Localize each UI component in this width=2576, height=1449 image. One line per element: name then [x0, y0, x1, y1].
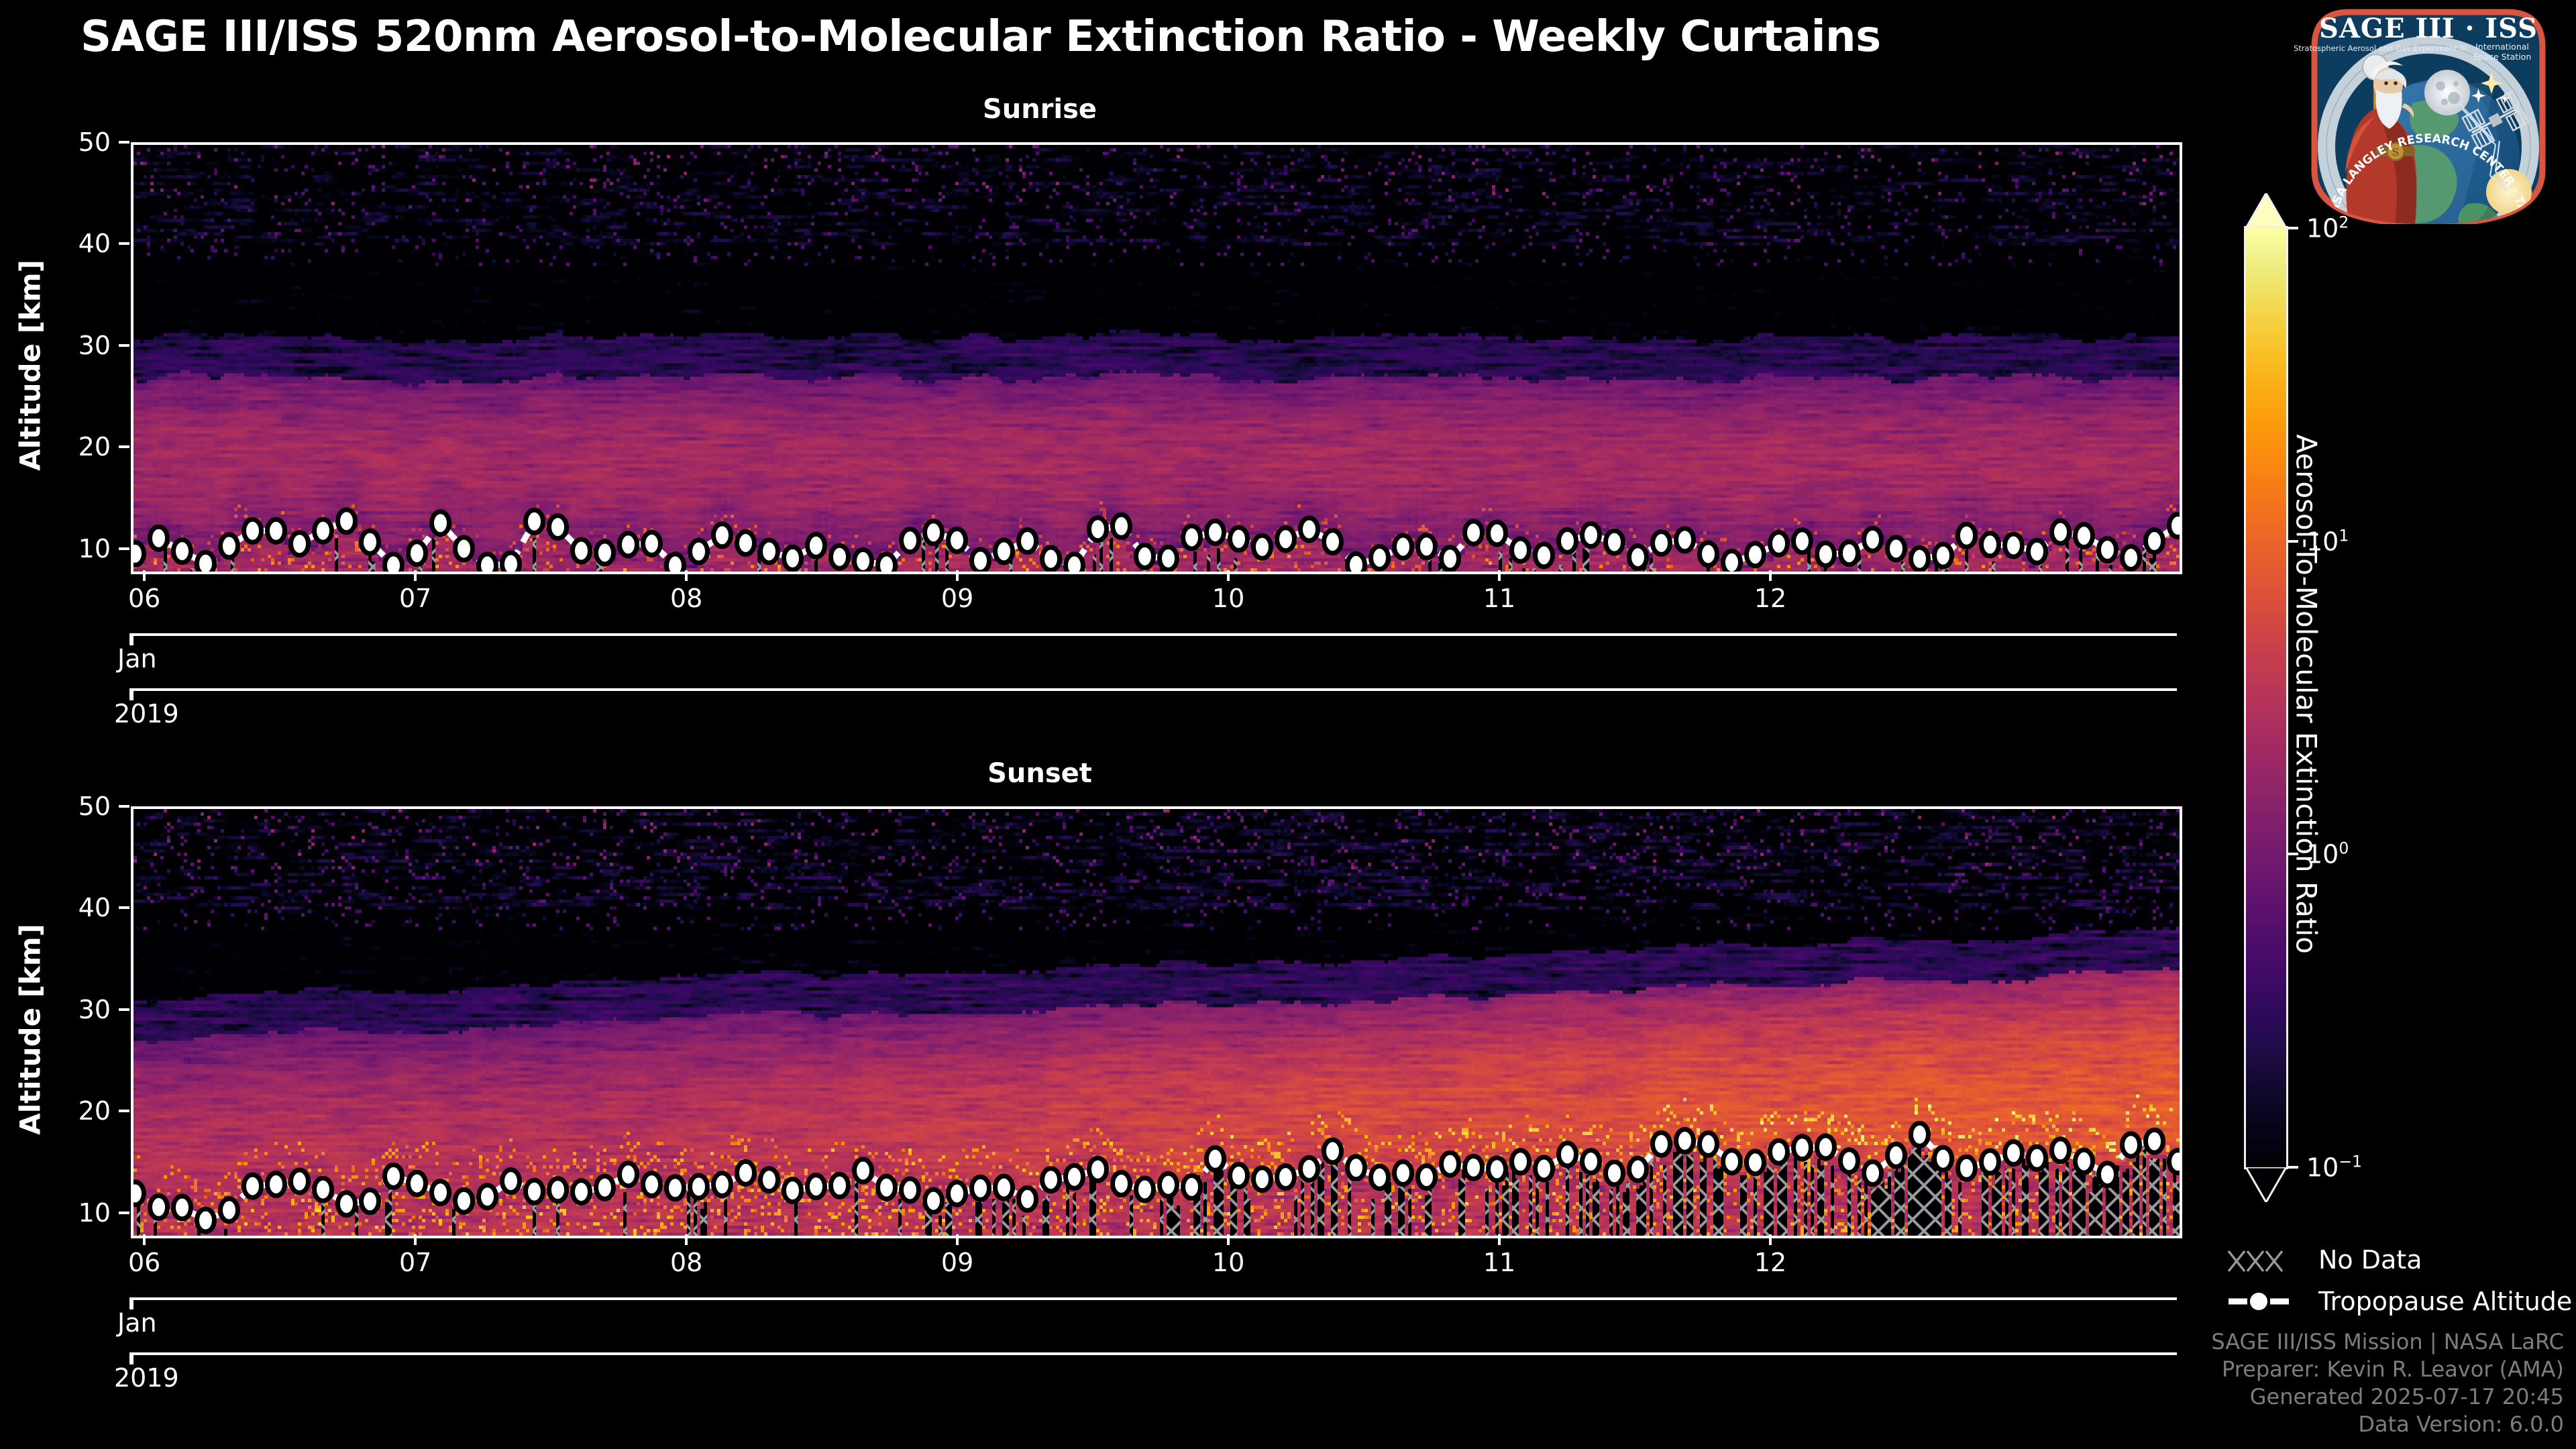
- x-tick-mark: [1227, 1234, 1230, 1245]
- x-tick-mark: [414, 1234, 417, 1245]
- plot-area-sunrise[interactable]: [131, 142, 2182, 574]
- y-tick-mark: [119, 1212, 129, 1214]
- tropopause-markers: [133, 510, 2180, 572]
- y-tick-mark: [119, 547, 129, 550]
- footer-line-version: Data Version: 6.0.0: [1960, 1411, 2564, 1438]
- logo-svg: S BALL · NASA LANGLEY RESEARCH CENTER · …: [2294, 3, 2563, 224]
- y-tick-mark: [119, 141, 129, 144]
- colorbar-extend-top: [2246, 193, 2286, 228]
- x-tick-mark: [685, 570, 688, 581]
- x-tick-label: 09: [941, 584, 973, 613]
- x-tick-mark: [414, 570, 417, 581]
- y-tick-label: 30: [0, 995, 111, 1024]
- x-tick-label: 08: [670, 584, 702, 613]
- x-tick-mark: [143, 570, 146, 581]
- y-axis-label-sunrise: Altitude [km]: [14, 151, 47, 580]
- colorbar-label: Aerosol-To-Molecular Extinction Ratio: [2290, 359, 2323, 1030]
- footer-line-generated: Generated 2025-07-17 20:45: [1960, 1383, 2564, 1411]
- x-axis-year-rule: [131, 1352, 2177, 1355]
- colorbar-tick-label: 10−1: [2306, 1152, 2362, 1183]
- y-tick-label: 30: [0, 331, 111, 360]
- x-tick-label: 12: [1754, 584, 1786, 613]
- logo-subtitle-right-2: Space Station: [2473, 52, 2532, 62]
- colorbar-tick-mark: [2286, 227, 2298, 229]
- footer-line-mission: SAGE III/ISS Mission | NASA LaRC: [1960, 1328, 2564, 1356]
- x-axis-month-label: Jan: [117, 1308, 157, 1338]
- x-tick-label: 06: [128, 1248, 160, 1277]
- y-tick-mark: [119, 445, 129, 448]
- x-tick-label: 11: [1483, 584, 1515, 613]
- x-tick-label: 06: [128, 584, 160, 613]
- x-tick-mark: [685, 1234, 688, 1245]
- x-tick-label: 11: [1483, 1248, 1515, 1277]
- y-tick-label: 20: [0, 1096, 111, 1126]
- x-tick-label: 07: [399, 1248, 431, 1277]
- footer-line-preparer: Preparer: Kevin R. Leavor (AMA): [1960, 1356, 2564, 1383]
- y-tick-label: 50: [0, 127, 111, 157]
- footer-credits: SAGE III/ISS Mission | NASA LaRC Prepare…: [1960, 1328, 2564, 1438]
- legend-item-tropopause[interactable]: Tropopause Altitude: [2227, 1286, 2572, 1317]
- y-tick-mark: [119, 1008, 129, 1011]
- colorbar-tick-label: 102: [2306, 213, 2349, 244]
- y-tick-label: 40: [0, 229, 111, 258]
- x-tick-label: 10: [1212, 1248, 1244, 1277]
- legend-item-no-data[interactable]: No Data: [2227, 1244, 2422, 1275]
- x-tick-mark: [143, 1234, 146, 1245]
- panel-sunrise: Sunrise Altitude [km] 1020304050 0607080…: [0, 94, 2214, 738]
- page-title: SAGE III/ISS 520nm Aerosol-to-Molecular …: [80, 12, 1881, 62]
- y-tick-mark: [119, 805, 129, 808]
- x-axis-month-rule: [131, 1297, 2177, 1300]
- panel-title-sunset: Sunset: [0, 758, 2147, 789]
- x-axis-month-rule: [131, 633, 2177, 636]
- x-axis-year-label: 2019: [114, 1363, 179, 1393]
- panel-title-sunrise: Sunrise: [0, 94, 2147, 125]
- x-tick-label: 12: [1754, 1248, 1786, 1277]
- plot-area-sunset[interactable]: [131, 806, 2182, 1238]
- hatch-x-icon: [2227, 1244, 2301, 1275]
- x-axis-year-label: 2019: [114, 699, 179, 729]
- y-tick-label: 10: [0, 1198, 111, 1228]
- y-tick-label: 10: [0, 534, 111, 563]
- x-tick-mark: [1498, 570, 1501, 581]
- x-tick-mark: [1769, 570, 1772, 581]
- y-axis-label-sunset: Altitude [km]: [14, 815, 47, 1244]
- x-tick-label: 10: [1212, 584, 1244, 613]
- x-tick-label: 07: [399, 584, 431, 613]
- x-tick-label: 09: [941, 1248, 973, 1277]
- x-tick-mark: [1227, 570, 1230, 581]
- y-tick-mark: [119, 906, 129, 909]
- y-tick-label: 20: [0, 432, 111, 462]
- sage-iii-iss-logo: S BALL · NASA LANGLEY RESEARCH CENTER · …: [2294, 3, 2563, 224]
- figure-canvas: SAGE III/ISS 520nm Aerosol-to-Molecular …: [0, 0, 2576, 1449]
- legend-label-no-data: No Data: [2318, 1245, 2422, 1275]
- y-tick-label: 40: [0, 893, 111, 922]
- plot-overlay: [133, 145, 2180, 572]
- y-tick-mark: [119, 242, 129, 245]
- logo-subtitle-left: Stratospheric Aerosol and Gas Experiment…: [2294, 44, 2467, 53]
- x-tick-mark: [956, 570, 959, 581]
- x-tick-mark: [1498, 1234, 1501, 1245]
- x-tick-mark: [956, 1234, 959, 1245]
- panel-sunset: Sunset Altitude [km] 1020304050 06070809…: [0, 758, 2214, 1402]
- x-tick-mark: [1769, 1234, 1772, 1245]
- y-tick-label: 50: [0, 792, 111, 821]
- plot-overlay: [133, 809, 2180, 1236]
- colorbar-extend-bottom: [2246, 1167, 2286, 1202]
- x-tick-label: 08: [670, 1248, 702, 1277]
- y-tick-mark: [119, 344, 129, 347]
- legend: No Data Tropopause Altitude: [2227, 1244, 2563, 1338]
- colorbar-gradient: [2246, 228, 2286, 1167]
- legend-label-tropopause: Tropopause Altitude: [2318, 1287, 2572, 1316]
- x-axis-year-rule: [131, 688, 2177, 691]
- x-axis-month-label: Jan: [117, 644, 157, 674]
- colorbar-tick-mark: [2286, 1166, 2298, 1169]
- logo-subtitle-right-1: International: [2475, 42, 2529, 52]
- y-tick-mark: [119, 1110, 129, 1112]
- logo-title: SAGE III · ISS: [2319, 13, 2538, 44]
- dash-dot-line-marker-icon: [2227, 1286, 2301, 1317]
- colorbar[interactable]: 10210110010−1 Aerosol-To-Molecular Extin…: [2246, 228, 2286, 1167]
